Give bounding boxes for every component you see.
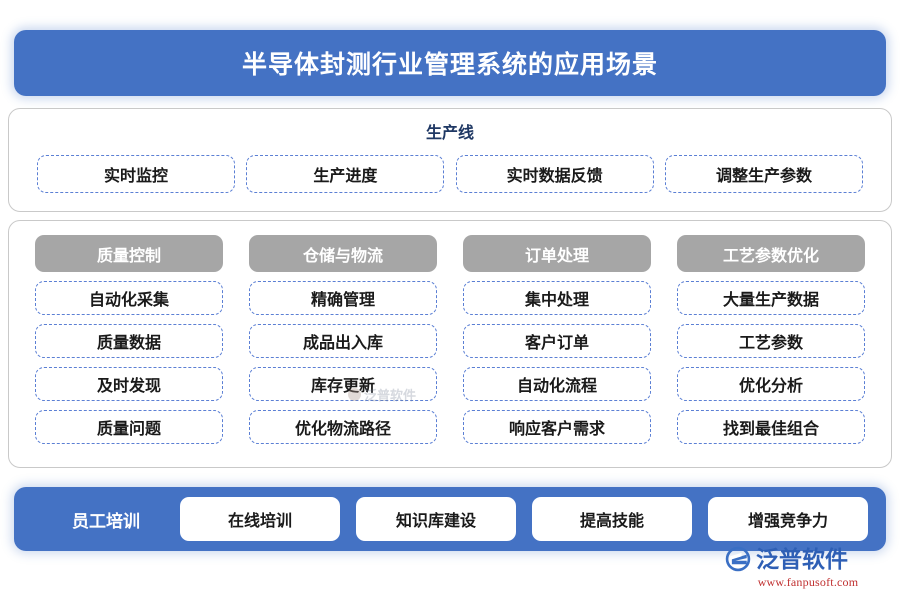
matrix-column-header-quality[interactable]: 质量控制: [35, 235, 223, 272]
matrix-cell[interactable]: 自动化流程: [463, 367, 651, 401]
matrix-column-header-process[interactable]: 工艺参数优化: [677, 235, 865, 272]
matrix-cell[interactable]: 精确管理: [249, 281, 437, 315]
capability-matrix-section: 质量控制 仓储与物流 订单处理 工艺参数优化 自动化采集 精确管理 集中处理 大…: [8, 220, 892, 468]
capability-matrix-grid: 质量控制 仓储与物流 订单处理 工艺参数优化 自动化采集 精确管理 集中处理 大…: [35, 235, 865, 444]
production-item[interactable]: 实时监控: [37, 155, 235, 193]
matrix-cell[interactable]: 响应客户需求: [463, 410, 651, 444]
matrix-cell[interactable]: 库存更新: [249, 367, 437, 401]
matrix-cell[interactable]: 及时发现: [35, 367, 223, 401]
matrix-cell[interactable]: 优化物流路径: [249, 410, 437, 444]
production-item[interactable]: 实时数据反馈: [456, 155, 654, 193]
diagram-title-banner: 半导体封测行业管理系统的应用场景: [14, 30, 886, 96]
employee-training-band: 员工培训 在线培训 知识库建设 提高技能 增强竞争力: [14, 487, 886, 551]
matrix-cell[interactable]: 找到最佳组合: [677, 410, 865, 444]
brand-logo: 泛普软件 www.fanpusoft.com: [724, 544, 892, 594]
matrix-column-header-warehouse[interactable]: 仓储与物流: [249, 235, 437, 272]
matrix-column-header-orders[interactable]: 订单处理: [463, 235, 651, 272]
matrix-cell[interactable]: 优化分析: [677, 367, 865, 401]
matrix-cell[interactable]: 集中处理: [463, 281, 651, 315]
page-title: 半导体封测行业管理系统的应用场景: [242, 45, 658, 81]
training-item[interactable]: 知识库建设: [356, 497, 516, 541]
matrix-cell[interactable]: 客户订单: [463, 324, 651, 358]
matrix-cell[interactable]: 大量生产数据: [677, 281, 865, 315]
training-item[interactable]: 提高技能: [532, 497, 692, 541]
production-item[interactable]: 生产进度: [246, 155, 444, 193]
diagram-canvas: 半导体封测行业管理系统的应用场景 生产线 实时监控 生产进度 实时数据反馈 调整…: [0, 0, 900, 600]
training-item[interactable]: 在线培训: [180, 497, 340, 541]
production-line-heading: 生产线: [9, 119, 891, 143]
production-item[interactable]: 调整生产参数: [665, 155, 863, 193]
brand-logo-url: www.fanpusoft.com: [724, 575, 892, 590]
brand-logo-name: 泛普软件: [756, 548, 848, 571]
fanpu-swoosh-icon: [724, 545, 752, 573]
production-line-section: 生产线 实时监控 生产进度 实时数据反馈 调整生产参数: [8, 108, 892, 212]
matrix-cell[interactable]: 质量数据: [35, 324, 223, 358]
training-item[interactable]: 增强竞争力: [708, 497, 868, 541]
training-label: 员工培训: [32, 507, 180, 532]
matrix-cell[interactable]: 质量问题: [35, 410, 223, 444]
brand-logo-row: 泛普软件: [724, 544, 892, 574]
matrix-cell[interactable]: 自动化采集: [35, 281, 223, 315]
matrix-cell[interactable]: 工艺参数: [677, 324, 865, 358]
production-line-items: 实时监控 生产进度 实时数据反馈 调整生产参数: [9, 155, 891, 193]
matrix-cell[interactable]: 成品出入库: [249, 324, 437, 358]
training-items: 在线培训 知识库建设 提高技能 增强竞争力: [180, 497, 868, 541]
